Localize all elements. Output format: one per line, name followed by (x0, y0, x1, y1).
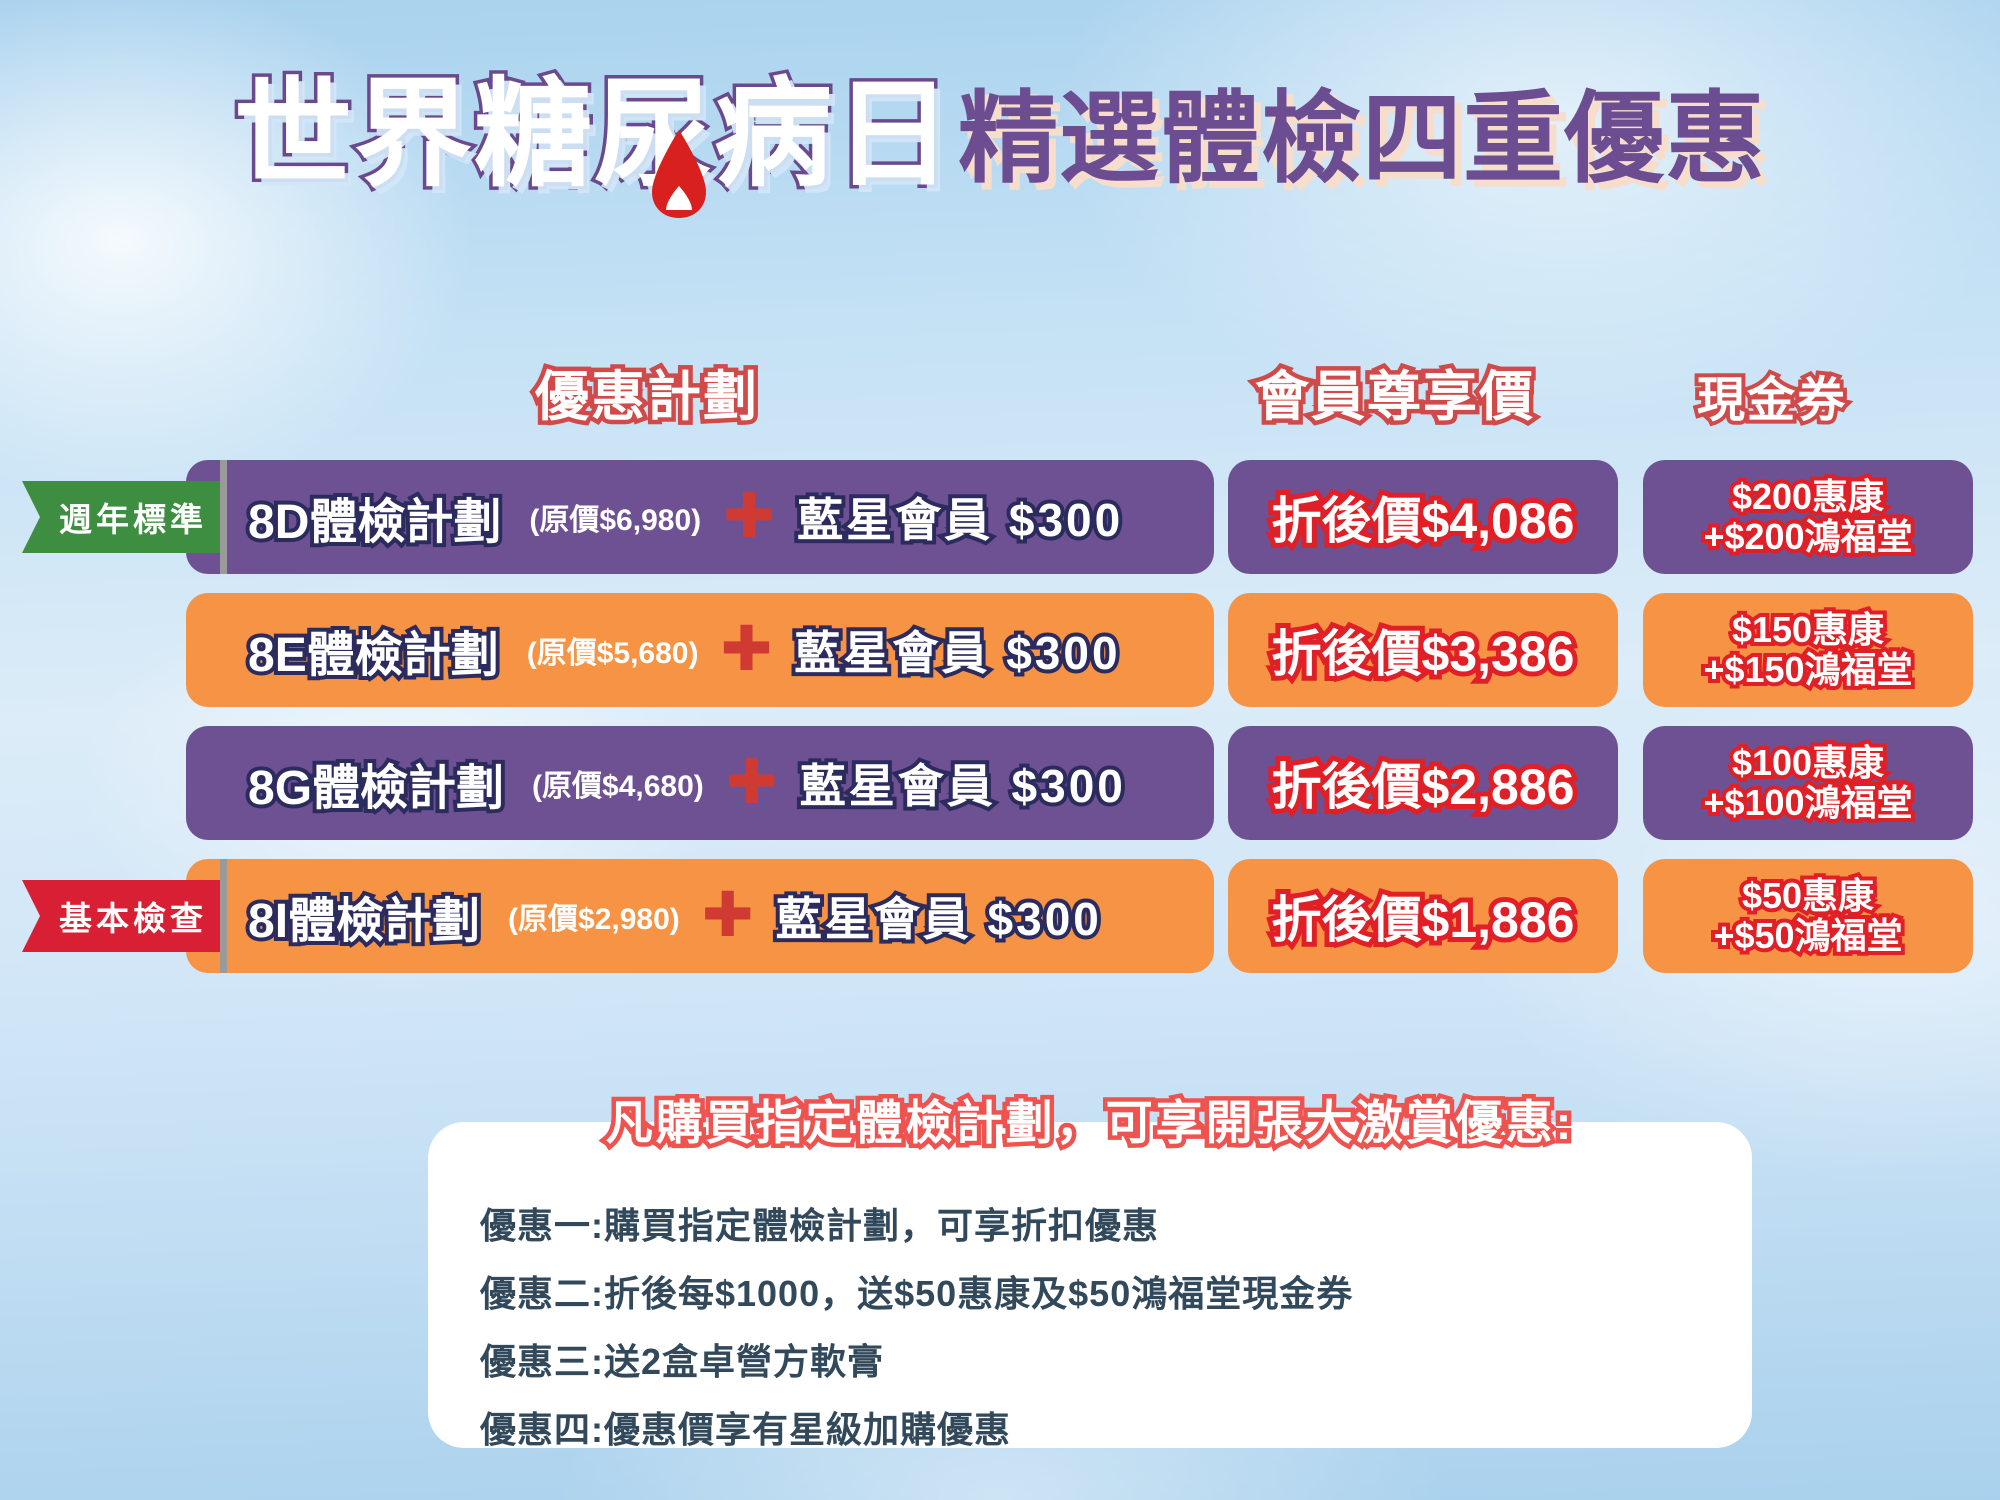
plan-original-price: (原價$2,980) (508, 894, 680, 938)
cash-coupon-cell[interactable]: $150惠康 +$150鴻福堂 (1643, 593, 1973, 707)
member-price-cell[interactable]: 折後價$2,886 (1228, 726, 1618, 840)
plan-cell[interactable]: 8D體檢計劃 (原價$6,980) ✚ 藍星會員 $300 (186, 460, 1214, 574)
column-header-plan: 優惠計劃 (535, 352, 759, 431)
plan-cell[interactable]: 8E體檢計劃 (原價$5,680) ✚ 藍星會員 $300 (186, 593, 1214, 707)
plus-icon: ✚ (702, 885, 754, 947)
member-price-cell[interactable]: 折後價$4,086 (1228, 460, 1618, 574)
row-ribbon-annual-standard: 週年標準 (22, 481, 222, 553)
column-header-member-price: 會員尊享價 (1255, 352, 1535, 431)
coupon-line-1: $100惠康 (1732, 743, 1884, 783)
coupon-line-1: $200惠康 (1732, 477, 1884, 517)
column-headers: 優惠計劃 會員尊享價 現金券 (0, 352, 2000, 426)
plan-name: 8G體檢計劃 (248, 748, 504, 818)
plan-cell[interactable]: 8I體檢計劃 (原價$2,980) ✚ 藍星會員 $300 (186, 859, 1214, 973)
cash-coupon-cell[interactable]: $100惠康 +$100鴻福堂 (1643, 726, 1973, 840)
coupon-line-2: +$200鴻福堂 (1703, 517, 1912, 557)
offers-card: 凡購買指定體檢計劃，可享開張大激賞優惠: 優惠一:購買指定體檢計劃，可享折扣優惠… (428, 1122, 1752, 1448)
plus-icon: ✚ (726, 752, 778, 814)
table-row: 週年標準 8D體檢計劃 (原價$6,980) ✚ 藍星會員 $300 折後價$4… (0, 460, 2000, 574)
table-row: 8G體檢計劃 (原價$4,680) ✚ 藍星會員 $300 折後價$2,886 … (0, 726, 2000, 840)
plan-cell[interactable]: 8G體檢計劃 (原價$4,680) ✚ 藍星會員 $300 (186, 726, 1214, 840)
coupon-line-2: +$50鴻福堂 (1713, 916, 1902, 956)
member-addon: 藍星會員 $300 (776, 883, 1102, 949)
table-row: 基本檢查 8I體檢計劃 (原價$2,980) ✚ 藍星會員 $300 折後價$1… (0, 859, 2000, 973)
discount-price: 折後價$4,086 (1272, 481, 1575, 553)
offer-table: 週年標準 8D體檢計劃 (原價$6,980) ✚ 藍星會員 $300 折後價$4… (0, 460, 2000, 992)
cash-coupon-cell[interactable]: $200惠康 +$200鴻福堂 (1643, 460, 1973, 574)
member-addon: 藍星會員 $300 (797, 484, 1123, 550)
discount-price: 折後價$2,886 (1272, 747, 1575, 819)
plan-original-price: (原價$6,980) (529, 495, 701, 539)
plan-original-price: (原價$5,680) (527, 628, 699, 672)
offers-list: 優惠一:購買指定體檢計劃，可享折扣優惠 優惠二:折後每$1000，送$50惠康及… (480, 1208, 1724, 1480)
discount-price: 折後價$1,886 (1272, 880, 1575, 952)
list-item: 優惠四:優惠價享有星級加購優惠 (480, 1412, 1724, 1448)
table-row: 8E體檢計劃 (原價$5,680) ✚ 藍星會員 $300 折後價$3,386 … (0, 593, 2000, 707)
discount-price: 折後價$3,386 (1272, 614, 1575, 686)
cash-coupon-cell[interactable]: $50惠康 +$50鴻福堂 (1643, 859, 1973, 973)
plus-icon: ✚ (720, 619, 772, 681)
row-ribbon-basic-check: 基本檢查 (22, 880, 222, 952)
coupon-line-1: $150惠康 (1732, 610, 1884, 650)
list-item: 優惠二:折後每$1000，送$50惠康及$50鴻福堂現金券 (480, 1276, 1724, 1312)
coupon-line-1: $50惠康 (1742, 876, 1874, 916)
column-header-cash-coupon: 現金券 (1697, 360, 1847, 430)
plus-icon: ✚ (723, 486, 775, 548)
ribbon-stem (220, 859, 227, 973)
plan-original-price: (原價$4,680) (532, 761, 704, 805)
ribbon-label: 週年標準 (37, 493, 207, 541)
list-item: 優惠三:送2盒卓營方軟膏 (480, 1344, 1724, 1380)
plan-name: 8I體檢計劃 (248, 881, 480, 951)
ribbon-label: 基本檢查 (37, 892, 207, 940)
member-addon: 藍星會員 $300 (794, 617, 1120, 683)
member-addon: 藍星會員 $300 (800, 750, 1126, 816)
ribbon-stem (220, 460, 227, 574)
coupon-line-2: +$150鴻福堂 (1703, 650, 1912, 690)
coupon-line-2: +$100鴻福堂 (1703, 783, 1912, 823)
member-price-cell[interactable]: 折後價$3,386 (1228, 593, 1618, 707)
offers-heading: 凡購買指定體檢計劃，可享開張大激賞優惠: (428, 1084, 1752, 1153)
list-item: 優惠一:購買指定體檢計劃，可享折扣優惠 (480, 1208, 1724, 1244)
member-price-cell[interactable]: 折後價$1,886 (1228, 859, 1618, 973)
plan-name: 8E體檢計劃 (248, 615, 499, 685)
plan-name: 8D體檢計劃 (248, 482, 501, 552)
